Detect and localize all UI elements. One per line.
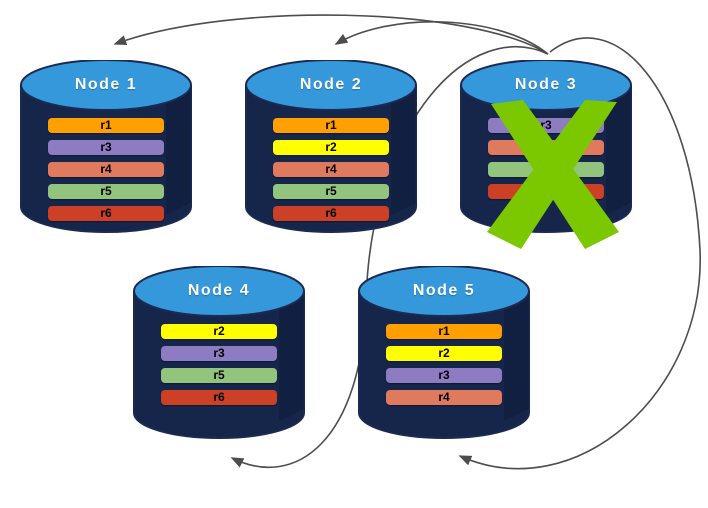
node-3-record-r5-label: [488, 162, 604, 177]
node-3-record-r6-label: [488, 184, 604, 199]
node-4-record-r5-label: r5: [161, 368, 277, 383]
node-1-record-r5-label: r5: [48, 184, 164, 199]
node-3-record-r3[interactable]: r3: [488, 118, 604, 133]
node-2-top-disc: [246, 60, 416, 110]
node-5[interactable]: Node 5r1r2r3r4: [358, 266, 530, 438]
node-2-record-r5-label: r5: [273, 184, 389, 199]
node-4-record-r5[interactable]: r5: [161, 368, 277, 383]
node-3-record-list: r3: [460, 118, 632, 206]
node-2-record-r5[interactable]: r5: [273, 184, 389, 199]
node-3-top-disc: [461, 60, 631, 110]
node-2-record-r2[interactable]: r2: [273, 140, 389, 155]
node-4-record-list: r2r3r5r6: [133, 324, 305, 412]
node-1-record-r6[interactable]: r6: [48, 206, 164, 221]
node-5-record-r3-label: r3: [386, 368, 502, 383]
node-3-record-r4-label: [488, 140, 604, 155]
node-1-record-r6-label: r6: [48, 206, 164, 221]
node-4-record-r3[interactable]: r3: [161, 346, 277, 361]
node-4-record-r6-label: r6: [161, 390, 277, 405]
node-2[interactable]: Node 2r1r2r4r5r6: [245, 60, 417, 232]
node-3-record-r3-label: r3: [488, 118, 604, 133]
node-5-top-disc: [359, 266, 529, 316]
node-4-record-r2-label: r2: [161, 324, 277, 339]
node-4-top-disc: [134, 266, 304, 316]
node-2-record-r2-label: r2: [273, 140, 389, 155]
node-5-record-r4-label: r4: [386, 390, 502, 405]
node-5-record-r1[interactable]: r1: [386, 324, 502, 339]
node-2-record-r4[interactable]: r4: [273, 162, 389, 177]
node-1-record-r4[interactable]: r4: [48, 162, 164, 177]
node-4-record-r6[interactable]: r6: [161, 390, 277, 405]
node-2-record-r6[interactable]: r6: [273, 206, 389, 221]
node-5-record-r1-label: r1: [386, 324, 502, 339]
node-1-record-r3[interactable]: r3: [48, 140, 164, 155]
node-1-record-r4-label: r4: [48, 162, 164, 177]
node-3[interactable]: Node 3r3: [460, 60, 632, 232]
node-2-record-list: r1r2r4r5r6: [245, 118, 417, 228]
node-4-record-r3-label: r3: [161, 346, 277, 361]
node-2-record-r4-label: r4: [273, 162, 389, 177]
node-5-record-r2[interactable]: r2: [386, 346, 502, 361]
replication-diagram: Node 1r1r3r4r5r6Node 2r1r2r4r5r6Node 3r3…: [0, 0, 708, 508]
node-3-record-r6[interactable]: [488, 184, 604, 199]
node-2-record-r6-label: r6: [273, 206, 389, 221]
node-1-top-disc: [21, 60, 191, 110]
node-5-record-r3[interactable]: r3: [386, 368, 502, 383]
node-5-record-r2-label: r2: [386, 346, 502, 361]
node-1-record-r1-label: r1: [48, 118, 164, 133]
node-1-record-r3-label: r3: [48, 140, 164, 155]
arrow-node3-to-node1: [115, 15, 548, 54]
node-5-record-r4[interactable]: r4: [386, 390, 502, 405]
node-1-record-r1[interactable]: r1: [48, 118, 164, 133]
node-2-record-r1[interactable]: r1: [273, 118, 389, 133]
node-4[interactable]: Node 4r2r3r5r6: [133, 266, 305, 438]
node-1[interactable]: Node 1r1r3r4r5r6: [20, 60, 192, 232]
node-3-record-r5[interactable]: [488, 162, 604, 177]
node-4-record-r2[interactable]: r2: [161, 324, 277, 339]
arrow-node3-to-node2: [336, 22, 548, 54]
node-1-record-r5[interactable]: r5: [48, 184, 164, 199]
node-2-record-r1-label: r1: [273, 118, 389, 133]
node-1-record-list: r1r3r4r5r6: [20, 118, 192, 228]
node-5-record-list: r1r2r3r4: [358, 324, 530, 412]
node-3-record-r4[interactable]: [488, 140, 604, 155]
